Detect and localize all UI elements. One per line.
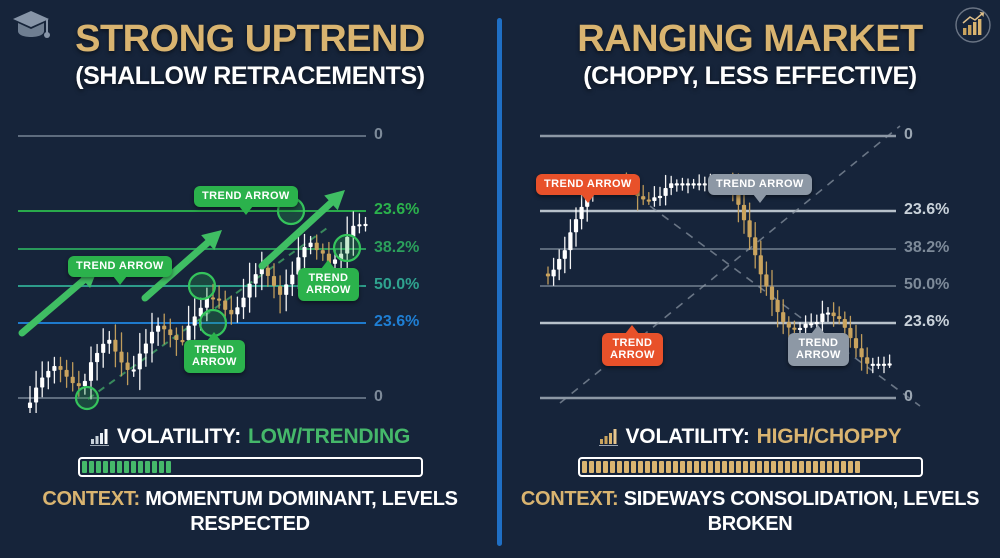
gauge-segment [764, 461, 769, 473]
badge-tail-icon [581, 194, 595, 203]
trend-arrow-badge-label: TREND ARROW [202, 190, 290, 202]
gauge-segment [617, 461, 622, 473]
trend-arrow-badge-label: TREND ARROW [76, 260, 164, 272]
context-value: MOMENTUM DOMINANT, LEVELS RESPECTED [145, 488, 458, 535]
gauge-segment [582, 461, 587, 473]
gauge-segment [145, 461, 150, 473]
fib-label: 0 [904, 126, 913, 144]
uptrend-chart: 023.6%38.2%50.0%23.6%0 TREND ARROWTREND … [0, 118, 500, 413]
gauge-segment [603, 461, 608, 473]
badge-tail-icon [811, 325, 825, 334]
gauge-segment [124, 461, 129, 473]
gauge-segment [750, 461, 755, 473]
gauge-segment [610, 461, 615, 473]
gauge-segment [715, 461, 720, 473]
ranging-chart: 023.6%38.2%50.0%23.6%0 TREND ARROWTREND … [500, 118, 1000, 413]
badge-tail-icon [239, 206, 253, 215]
gauge-segment [778, 461, 783, 473]
gauge-segment [806, 461, 811, 473]
gauge-segment [631, 461, 636, 473]
fib-label: 23.6% [374, 313, 419, 331]
trend-arrow-badge[interactable]: TREND ARROW [788, 333, 849, 366]
gauge-segment [666, 461, 671, 473]
gauge-segment [659, 461, 664, 473]
gauge-segment [117, 461, 122, 473]
trend-arrow-badge[interactable]: TREND ARROW [298, 268, 359, 301]
gauge-segment [96, 461, 101, 473]
gauge-segment [152, 461, 157, 473]
fib-label: 0 [374, 126, 383, 144]
gauge-segment [138, 461, 143, 473]
volatility-gauge-fill [582, 461, 860, 473]
gauge-segment [638, 461, 643, 473]
right-panel-titles: RANGING MARKET (CHOPPY, LESS EFFECTIVE) [500, 18, 1000, 91]
context-value: SIDEWAYS CONSOLIDATION, LEVELS BROKEN [624, 488, 980, 535]
gauge-segment [680, 461, 685, 473]
fib-label: 0 [904, 388, 913, 406]
trend-arrow-badge[interactable]: TREND ARROW [708, 174, 812, 195]
badge-tail-icon [753, 194, 767, 203]
trend-arrow-badge-label: TREND ARROW [610, 337, 655, 361]
fib-label: 0 [374, 388, 383, 406]
gauge-segment [701, 461, 706, 473]
trend-arrow-badge-label: TREND ARROW [544, 178, 632, 190]
gauge-segment [103, 461, 108, 473]
gauge-segment [596, 461, 601, 473]
gauge-segment [729, 461, 734, 473]
gauge-segment [841, 461, 846, 473]
badge-tail-icon [321, 260, 335, 269]
gauge-segment [166, 461, 171, 473]
context-key: CONTEXT: [521, 488, 619, 510]
volatility-value: LOW/TRENDING [248, 425, 410, 449]
volatility-gauge [578, 457, 923, 477]
trend-arrow-badge-label: TREND ARROW [716, 178, 804, 190]
page-title: RANGING MARKET [500, 18, 1000, 60]
graduation-cap-icon [10, 6, 52, 44]
gauge-segment [848, 461, 853, 473]
left-panel-titles: STRONG UPTREND (SHALLOW RETRACEMENTS) [0, 18, 500, 91]
gauge-segment [827, 461, 832, 473]
page-title: STRONG UPTREND [0, 18, 500, 60]
gauge-segment [757, 461, 762, 473]
trend-arrow-badge[interactable]: TREND ARROW [194, 186, 298, 207]
gauge-segment [131, 461, 136, 473]
bar-chart-icon [90, 428, 110, 446]
gauge-segment [736, 461, 741, 473]
page-subtitle: (SHALLOW RETRACEMENTS) [0, 61, 500, 91]
context-key: CONTEXT: [42, 488, 140, 510]
gauge-segment [624, 461, 629, 473]
bar-chart-icon [599, 428, 619, 446]
gauge-segment [82, 461, 87, 473]
trend-arrow-badge[interactable]: TREND ARROW [536, 174, 640, 195]
gauge-segment [820, 461, 825, 473]
context-text: CONTEXT: SIDEWAYS CONSOLIDATION, LEVELS … [500, 487, 1000, 537]
page-subtitle: (CHOPPY, LESS EFFECTIVE) [500, 61, 1000, 91]
gauge-segment [652, 461, 657, 473]
trend-arrow-badge[interactable]: TREND ARROW [184, 340, 245, 373]
gauge-segment [589, 461, 594, 473]
context-text: CONTEXT: MOMENTUM DOMINANT, LEVELS RESPE… [0, 487, 500, 537]
fib-label: 23.6% [904, 201, 949, 219]
panel-strong-uptrend: STRONG UPTREND (SHALLOW RETRACEMENTS) 02… [0, 0, 500, 558]
fib-label: 38.2% [374, 239, 419, 257]
badge-tail-icon [625, 325, 639, 334]
trend-arrow-badge[interactable]: TREND ARROW [602, 333, 663, 366]
gauge-segment [813, 461, 818, 473]
gauge-segment [834, 461, 839, 473]
trend-arrow-badge-label: TREND ARROW [192, 344, 237, 368]
volatility-label: VOLATILITY: [626, 425, 750, 449]
gauge-segment [771, 461, 776, 473]
chart-growth-badge-icon [954, 6, 992, 44]
gauge-segment [159, 461, 164, 473]
badge-tail-icon [207, 332, 221, 341]
fib-label: 50.0% [904, 276, 949, 294]
volatility-row: VOLATILITY: HIGH/CHOPPY [500, 425, 1000, 449]
gauge-segment [743, 461, 748, 473]
gauge-segment [708, 461, 713, 473]
gauge-segment [110, 461, 115, 473]
trend-arrow-badge[interactable]: TREND ARROW [68, 256, 172, 277]
gauge-segment [673, 461, 678, 473]
gauge-segment [89, 461, 94, 473]
volatility-row: VOLATILITY: LOW/TRENDING [0, 425, 500, 449]
panel-ranging-market: RANGING MARKET (CHOPPY, LESS EFFECTIVE) … [500, 0, 1000, 558]
gauge-segment [785, 461, 790, 473]
volatility-gauge-fill [82, 461, 171, 473]
volatility-value: HIGH/CHOPPY [757, 425, 902, 449]
fib-label: 38.2% [904, 239, 949, 257]
gauge-segment [687, 461, 692, 473]
ranging-chart-svg [500, 118, 1000, 413]
gauge-segment [799, 461, 804, 473]
panel-divider [497, 18, 502, 546]
fib-label: 50.0% [374, 276, 419, 294]
trend-arrow-badge-label: TREND ARROW [796, 337, 841, 361]
gauge-segment [694, 461, 699, 473]
right-footer: VOLATILITY: HIGH/CHOPPY CONTEXT: SIDEWAY… [500, 425, 1000, 537]
gauge-segment [792, 461, 797, 473]
trend-arrow-badge-label: TREND ARROW [306, 272, 351, 296]
fib-label: 23.6% [904, 313, 949, 331]
gauge-segment [722, 461, 727, 473]
gauge-segment [855, 461, 860, 473]
volatility-gauge [78, 457, 423, 477]
fib-label: 23.6% [374, 201, 419, 219]
volatility-label: VOLATILITY: [117, 425, 241, 449]
gauge-segment [645, 461, 650, 473]
left-footer: VOLATILITY: LOW/TRENDING CONTEXT: MOMENT… [0, 425, 500, 537]
badge-tail-icon [113, 276, 127, 285]
